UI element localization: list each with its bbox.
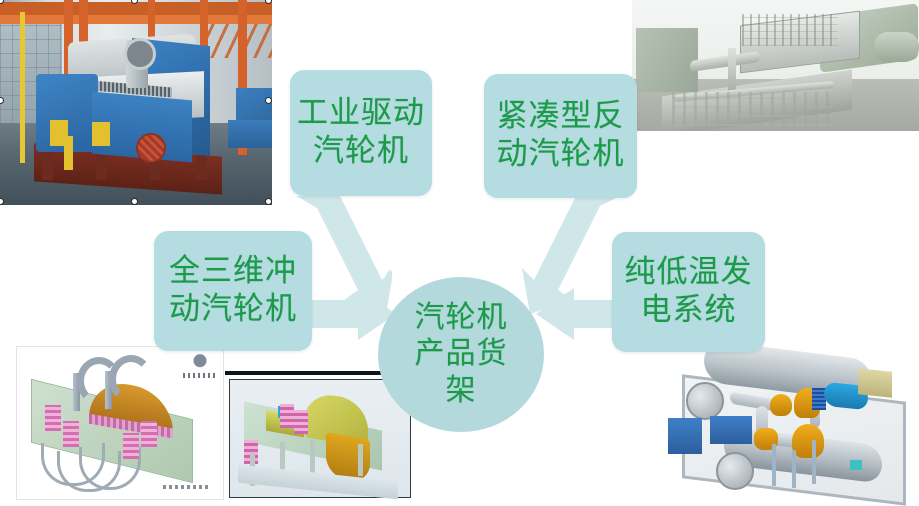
red-exhaust-flange [136, 133, 166, 163]
blue-control-box [668, 418, 702, 454]
support-post [310, 440, 315, 476]
pipe-elbow [109, 355, 153, 403]
base-leg [42, 148, 53, 180]
crane-truss [200, 18, 272, 58]
turbine-piping-detail [742, 14, 838, 46]
teal-fitting [850, 460, 862, 470]
selection-handle-middle-right[interactable] [265, 97, 272, 104]
photo-cad-turbine[interactable] [225, 371, 415, 502]
generator-unit [858, 368, 892, 398]
node-compact-reaction-steam-turbine[interactable]: 紧凑型反 动汽轮机 [484, 74, 637, 198]
yellow-valve [792, 424, 824, 458]
plant-pipe [728, 48, 736, 92]
node-label-compact-reaction: 紧凑型反 动汽轮机 [497, 98, 625, 174]
yellow-jack [92, 122, 110, 146]
safety-rail [20, 118, 25, 163]
vessel-head [716, 452, 754, 490]
plant-auxiliary-skid [672, 92, 832, 126]
crane-beam-upper [0, 2, 272, 15]
selection-handle-bottom-center[interactable] [131, 198, 138, 205]
yellow-jack [64, 136, 73, 170]
spring-isolator [141, 421, 157, 447]
support-leg [792, 450, 796, 488]
blue-control-box [710, 416, 752, 444]
support-leg [812, 440, 816, 484]
ground-plane [238, 465, 398, 500]
crane-beam-lower [0, 15, 272, 24]
node-turbine-product-shelf[interactable]: 汽轮机 产品货 架 [378, 277, 544, 432]
node-label-turbine-product-shelf: 汽轮机 产品货 架 [415, 300, 508, 410]
plant-enclosure [636, 28, 698, 92]
presentation-slide: 工业驱动 汽轮机 紧凑型反 动汽轮机 全三维冲 动汽轮机 纯低温发 电系统 汽轮… [0, 0, 919, 506]
node-label-low-temp-power: 纯低温发 电系统 [625, 254, 753, 330]
background-turbine-unit [228, 120, 272, 148]
photo-cad-foundation[interactable] [16, 346, 224, 500]
photo-orc-skid[interactable] [660, 340, 919, 506]
spring-isolator [294, 410, 308, 434]
drawing-caption [163, 485, 211, 489]
spring-isolator [63, 421, 79, 447]
generator-cylinder [874, 32, 919, 62]
company-logo-mark [187, 353, 213, 375]
node-industrial-drive-steam-turbine[interactable]: 工业驱动 汽轮机 [290, 70, 432, 196]
node-label-industrial-drive: 工业驱动 汽轮机 [297, 95, 425, 171]
support-leg [772, 444, 776, 486]
support-post [358, 444, 363, 476]
spring-isolator [45, 405, 61, 431]
node-label-full-3d-impulse: 全三维冲 动汽轮机 [169, 253, 297, 329]
vessel-head [686, 382, 724, 420]
cad-viewport [229, 379, 411, 498]
company-logo-text [183, 373, 217, 378]
yellow-valve [770, 394, 792, 416]
node-pure-low-temperature-power-generation-system[interactable]: 纯低温发 电系统 [612, 232, 765, 352]
spring-isolator [280, 404, 294, 428]
node-full-3d-impulse-steam-turbine[interactable]: 全三维冲 动汽轮机 [154, 231, 312, 351]
photo-3d-plant[interactable] [632, 0, 919, 131]
photo-turbine-shop[interactable] [0, 0, 272, 205]
steam-inlet-ring [124, 38, 156, 70]
selection-handle-bottom-right[interactable] [265, 198, 272, 205]
spring-isolator [123, 433, 139, 459]
